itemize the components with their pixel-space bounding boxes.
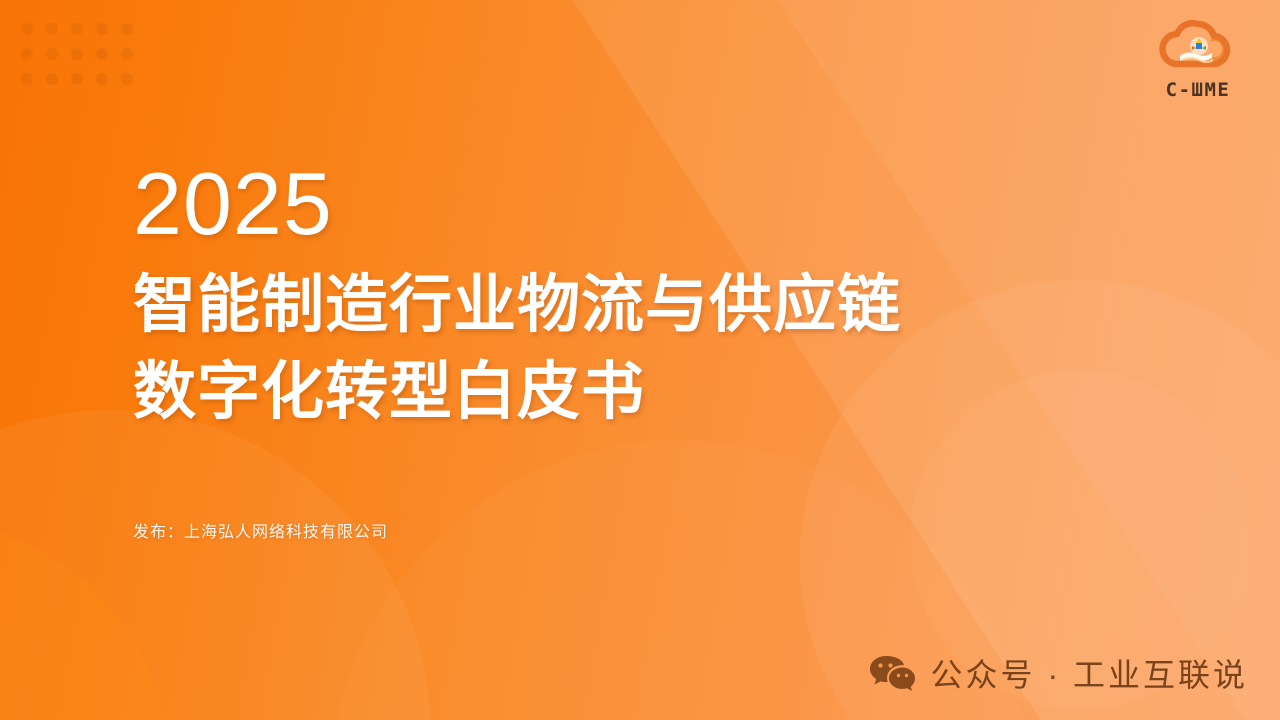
grid-dot — [21, 48, 33, 60]
grid-dot — [21, 23, 33, 35]
grid-dot — [71, 48, 83, 60]
grid-dot — [121, 48, 133, 60]
grid-dot — [121, 73, 133, 85]
cover-year: 2025 — [133, 160, 1093, 248]
grid-dot — [46, 23, 58, 35]
wechat-account-label: 公众号 · 工业互联说 — [931, 650, 1248, 696]
grid-dot — [71, 73, 83, 85]
grid-dot — [21, 73, 33, 85]
grid-dot — [96, 23, 108, 35]
grid-dot — [71, 23, 83, 35]
cover-title-line-1: 智能制造行业物流与供应链 — [133, 262, 1093, 349]
cover-title-line-2: 数字化转型白皮书 — [133, 349, 1093, 436]
cover-content: 2025 智能制造行业物流与供应链 数字化转型白皮书 发布：上海弘人网络科技有限… — [133, 160, 1093, 542]
grid-dot — [121, 23, 133, 35]
whitepaper-cover-slide: C-ШME 2025 智能制造行业物流与供应链 数字化转型白皮书 发布：上海弘人… — [0, 0, 1280, 720]
wechat-icon — [869, 654, 915, 692]
brand-logo-text: C-ШME — [1166, 79, 1231, 101]
grid-dot — [96, 48, 108, 60]
dot-grid-decoration — [21, 23, 133, 85]
brand-logo: C-ШME — [1138, 18, 1258, 101]
wechat-account-banner: 公众号 · 工业互联说 — [869, 650, 1248, 696]
bottom-left-arc-shape-inner — [0, 520, 170, 720]
grid-dot — [46, 48, 58, 60]
grid-dot — [46, 73, 58, 85]
cloud-logo-icon — [1152, 18, 1244, 76]
grid-dot — [96, 73, 108, 85]
cover-publisher: 发布：上海弘人网络科技有限公司 — [133, 518, 1093, 542]
